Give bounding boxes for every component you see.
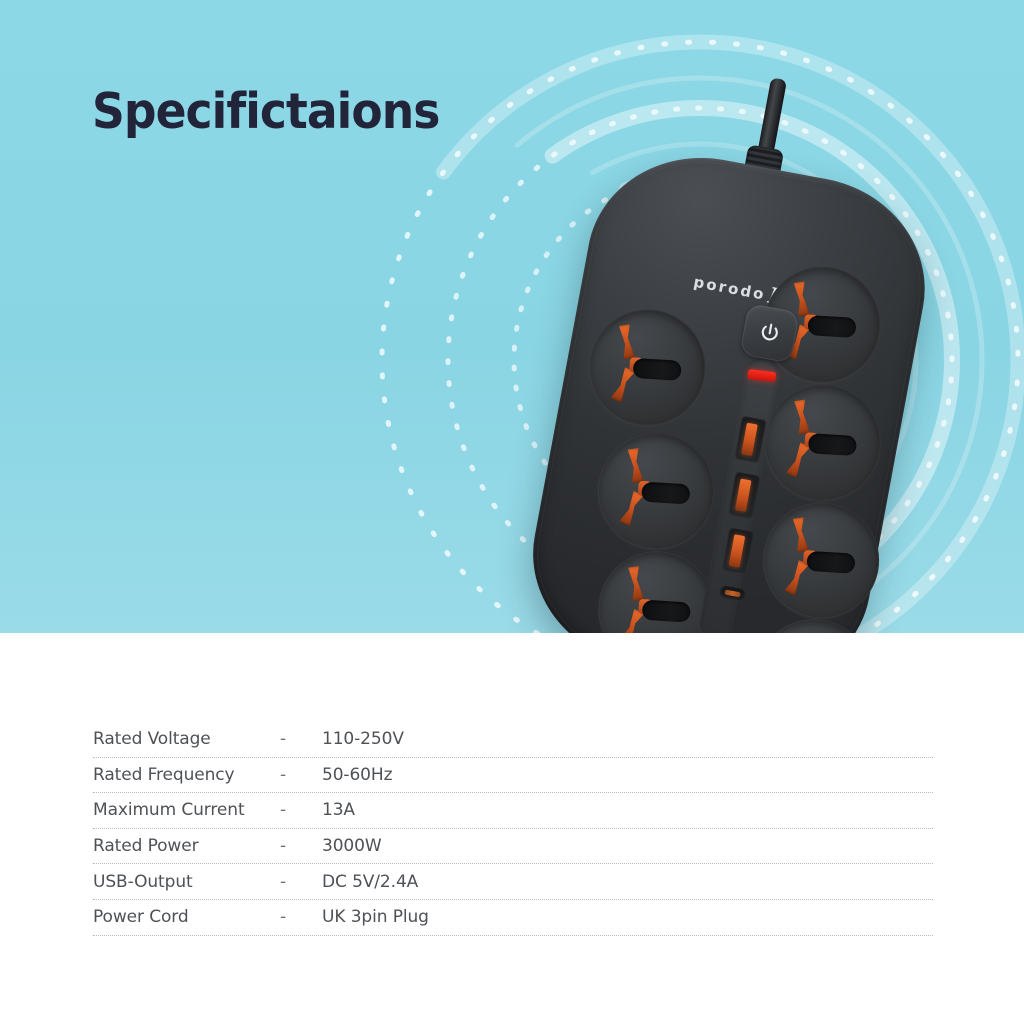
table-row: Rated Voltage - 110-250V — [93, 722, 933, 758]
socket-1[interactable] — [580, 300, 715, 435]
socket-2[interactable] — [588, 424, 723, 559]
spec-label: Power Cord — [93, 907, 280, 927]
hero-banner: Specifictaions porodoBlue — [0, 0, 1024, 633]
power-icon — [756, 319, 784, 347]
product-image: porodoBlue — [500, 74, 970, 633]
socket-slot-earth — [633, 358, 682, 381]
usb-a-tongue — [729, 534, 746, 567]
table-row: Rated Power - 3000W — [93, 829, 933, 865]
table-row: Maximum Current - 13A — [93, 793, 933, 829]
spec-value: 110-250V — [322, 729, 933, 749]
spec-value: UK 3pin Plug — [322, 907, 933, 927]
spec-value: DC 5V/2.4A — [322, 872, 933, 892]
usb-c-bar — [724, 589, 741, 597]
usb-a-tongue — [735, 478, 752, 511]
spec-label: Maximum Current — [93, 800, 280, 820]
socket-slot-earth — [642, 600, 691, 623]
spec-value: 50-60Hz — [322, 765, 933, 785]
spec-value: 13A — [322, 800, 933, 820]
product-rotor: porodoBlue — [446, 37, 1024, 633]
socket-slot-live — [790, 281, 810, 317]
spec-label: Rated Voltage — [93, 729, 280, 749]
table-row: Rated Frequency - 50-60Hz — [93, 758, 933, 794]
socket-slot-earth — [808, 433, 857, 456]
spec-label: Rated Power — [93, 836, 280, 856]
power-button[interactable] — [739, 303, 800, 364]
table-row: Power Cord - UK 3pin Plug — [93, 900, 933, 936]
power-strip-body: porodoBlue — [515, 139, 943, 633]
spec-label: USB-Output — [93, 872, 280, 892]
spec-dash: - — [280, 765, 322, 785]
page-title: Specifictaions — [92, 86, 439, 137]
socket-slot-live — [789, 517, 809, 553]
socket-slot-live — [615, 324, 635, 360]
usb-a-tongue — [741, 423, 758, 456]
socket-7[interactable] — [754, 493, 889, 628]
specifications-table: Rated Voltage - 110-250V Rated Frequency… — [93, 722, 933, 936]
spec-label: Rated Frequency — [93, 765, 280, 785]
socket-slot-earth — [806, 551, 855, 574]
table-row: USB-Output - DC 5V/2.4A — [93, 864, 933, 900]
spec-dash: - — [280, 872, 322, 892]
spec-dash: - — [280, 800, 322, 820]
spec-dash: - — [280, 836, 322, 856]
spec-dash: - — [280, 907, 322, 927]
socket-slot-live — [790, 399, 810, 435]
socket-slot-earth — [807, 315, 856, 338]
product-spec-page: Specifictaions porodoBlue — [0, 0, 1024, 1024]
socket-slot-live — [624, 448, 644, 484]
socket-slot-earth — [641, 482, 690, 505]
socket-slot-live — [624, 566, 644, 602]
spec-value: 3000W — [322, 836, 933, 856]
spec-dash: - — [280, 729, 322, 749]
brand-primary-text: porodo — [692, 273, 767, 304]
